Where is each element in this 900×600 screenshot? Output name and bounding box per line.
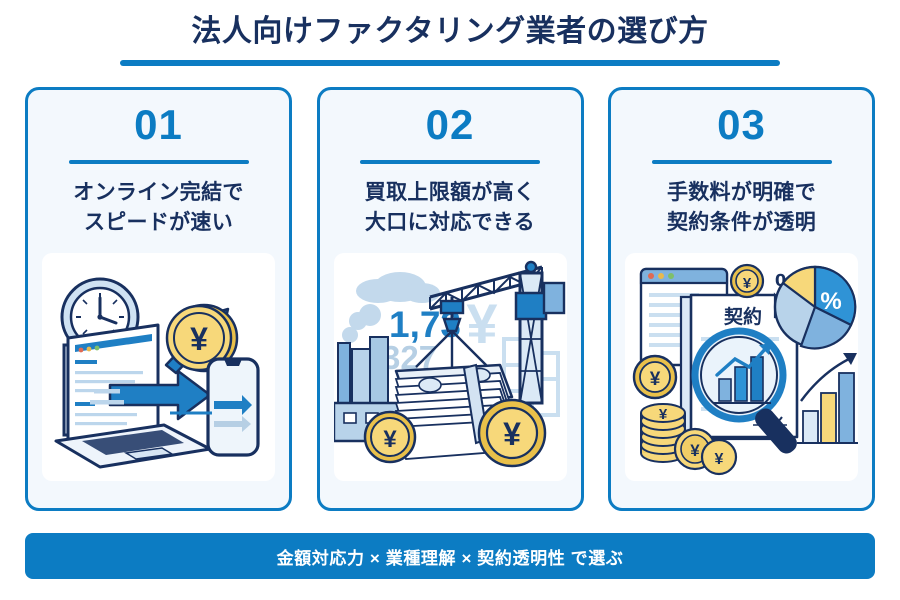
card-heading-line-2: 契約条件が透明 [667,208,816,238]
yen-coin-top-icon: ¥ [731,265,763,297]
summary-banner-text: 金額対応力 × 業種理解 × 契約透明性 で選ぶ [277,544,624,569]
card-heading-02: 買取上限額が高く 大口に対応できる [365,178,535,239]
pie-percent-label: % [820,288,841,315]
large-amount-illustration: ¥ 1,73 327 [334,253,567,481]
card-divider-01 [69,160,249,164]
contract-transparency-illustration: 契約 [625,253,858,481]
yen-coin-small-icon: ¥ [365,412,415,462]
yen-coin-large-icon: ¥ [479,400,545,466]
yen-watermark: ¥ [466,292,497,355]
card-heading-line-2: スピードが速い [73,208,243,238]
card-number-02: 02 [426,104,475,146]
card-heading-01: オンライン完結で スピードが速い [73,178,243,239]
svg-text:¥: ¥ [383,426,397,453]
card-divider-02 [360,160,540,164]
card-heading-line-1: オンライン完結で [73,178,243,208]
card-heading-line-2: 大口に対応できる [365,208,535,238]
feature-card-02[interactable]: 02 買取上限額が高く 大口に対応できる [317,87,584,511]
feature-card-01[interactable]: 01 オンライン完結で スピードが速い [25,87,292,511]
summary-banner: 金額対応力 × 業種理解 × 契約透明性 で選ぶ [25,533,875,579]
page-title-block: 法人向けファクタリング業者の選び方 [0,14,900,66]
svg-text:¥: ¥ [503,416,521,452]
svg-text:¥: ¥ [715,451,724,468]
online-speed-illustration: ¥ [42,253,275,481]
card-divider-03 [652,160,832,164]
svg-text:¥: ¥ [190,321,208,357]
svg-text:¥: ¥ [650,369,661,390]
growth-bar-chart-icon [797,353,858,443]
card-number-03: 03 [717,104,766,146]
svg-text:¥: ¥ [690,441,700,460]
smartphone-icon [208,359,258,455]
feature-card-03[interactable]: 03 手数料が明確で 契約条件が透明 [608,87,875,511]
infographic-page: 法人向けファクタリング業者の選び方 01 オンライン完結で スピードが速い [0,0,900,600]
card-heading-line-1: 買取上限額が高く [365,178,535,208]
card-heading-line-1: 手数料が明確で [667,178,816,208]
card-heading-03: 手数料が明確で 契約条件が透明 [667,178,816,239]
svg-text:¥: ¥ [659,406,668,423]
feature-card-list: 01 オンライン完結で スピードが速い [25,87,875,511]
title-underline-bar [120,60,780,66]
pie-chart-icon: % [775,267,855,348]
contract-title-label: 契約 [723,305,762,328]
page-title: 法人向けファクタリング業者の選び方 [0,14,900,50]
yen-coin-icon: ¥ [634,356,676,398]
svg-text:¥: ¥ [743,275,752,292]
card-number-01: 01 [134,104,183,146]
